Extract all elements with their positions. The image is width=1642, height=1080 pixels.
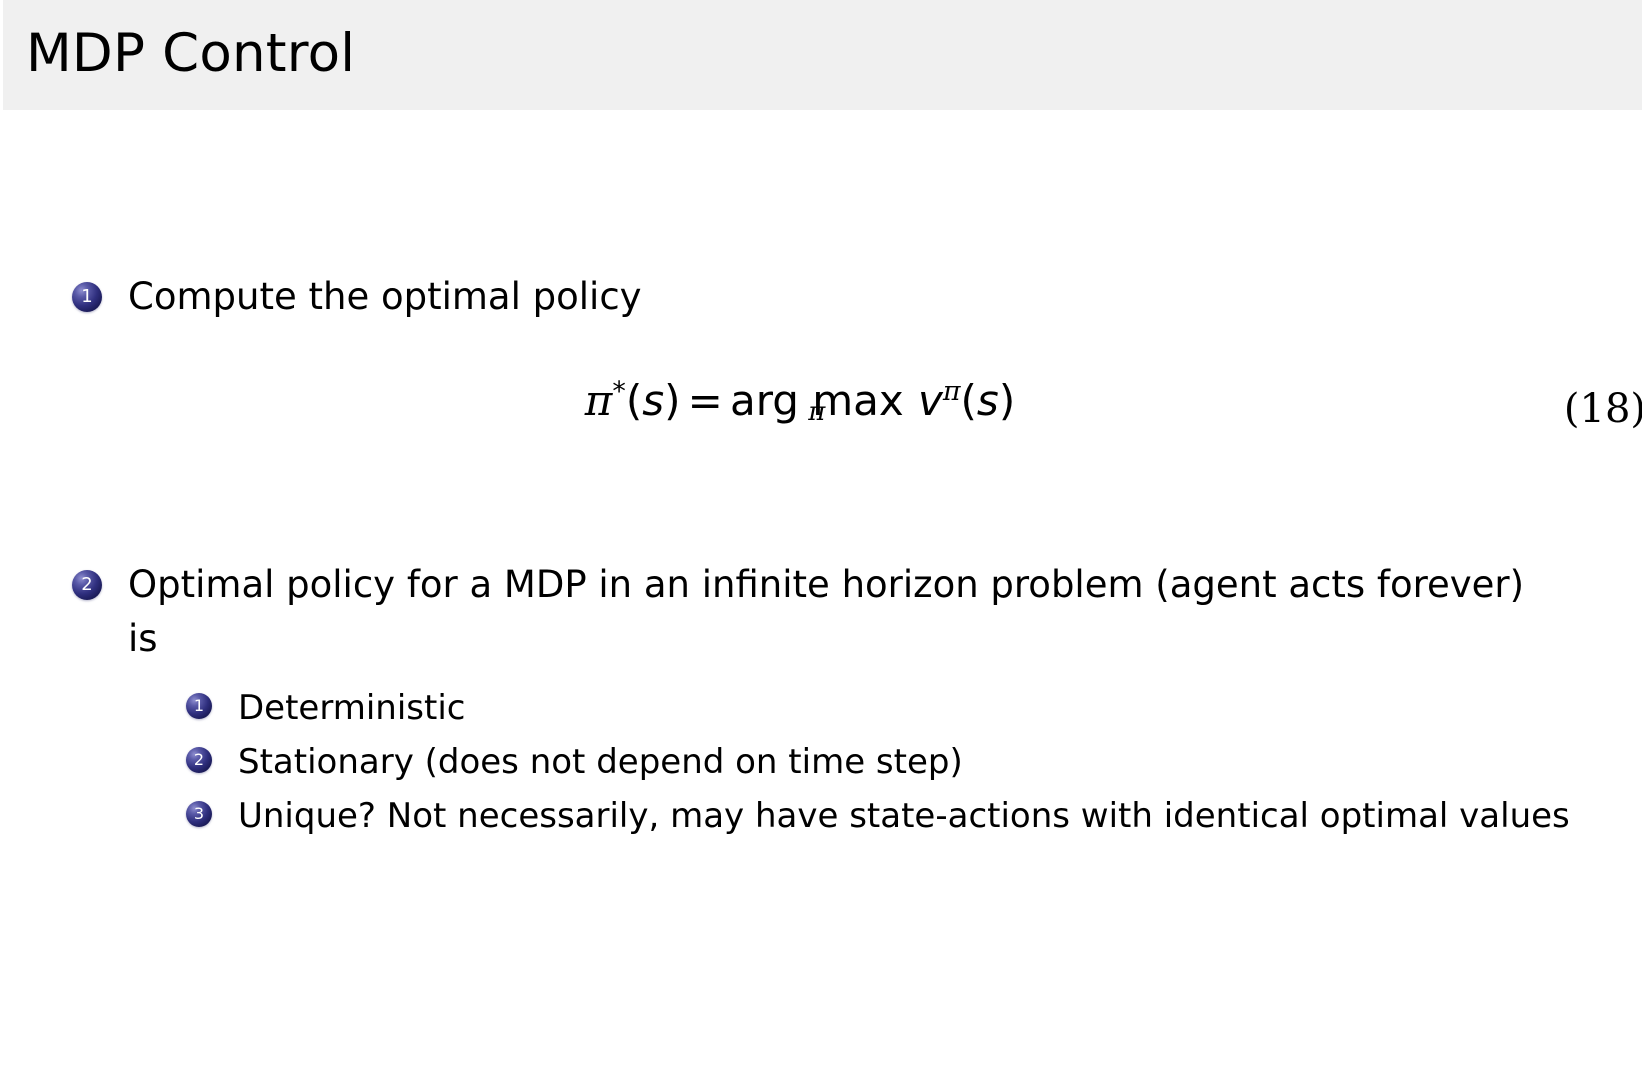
equation-value-function-symbol: v — [918, 376, 943, 425]
equation-argmax-subscript: π — [730, 399, 904, 425]
equation-star-superscript: * — [612, 376, 625, 407]
list-item: 3 Unique? Not necessarily, may have stat… — [172, 790, 1608, 842]
equation-close-paren: ) — [664, 376, 680, 425]
equation-close-paren-2: ) — [999, 376, 1015, 425]
sub-list-item-label: Unique? Not necessarily, may have state-… — [238, 796, 1570, 836]
equation-open-paren-2: ( — [961, 376, 977, 425]
display-equation: π*(s)=arg maxπvπ(s) (18) — [60, 372, 1642, 492]
enumerate-ball-marker-sub-1: 1 — [186, 693, 212, 719]
equation-state-variable-2: s — [977, 376, 999, 425]
list-item-label: Optimal policy for a MDP in an infinite … — [128, 563, 1524, 660]
list-item: 2 Stationary (does not depend on time st… — [172, 736, 1608, 788]
slide-body: 1 Compute the optimal policy π*(s)=arg m… — [0, 110, 1642, 1080]
enumerate-ball-marker-sub-2: 2 — [186, 747, 212, 773]
equation-number: (18) — [1564, 380, 1642, 438]
slide-header-bar: MDP Control — [0, 0, 1642, 110]
enumerate-level-1-continued: 2 Optimal policy for a MDP in an infinit… — [60, 558, 1540, 844]
enumerate-ball-marker-sub-3: 3 — [186, 801, 212, 827]
equation-pi-symbol: π — [585, 376, 613, 425]
enumerate-ball-marker-1: 1 — [72, 282, 102, 312]
list-item: 2 Optimal policy for a MDP in an infinit… — [60, 558, 1540, 842]
sub-list-item-label: Stationary (does not depend on time step… — [238, 742, 963, 782]
page-title: MDP Control — [26, 22, 355, 86]
sub-list-item-label: Deterministic — [238, 688, 465, 728]
enumerate-level-1: 1 Compute the optimal policy — [60, 270, 1540, 324]
equation-state-variable: s — [642, 376, 664, 425]
equation-value-superscript: π — [943, 376, 961, 407]
list-item: 1 Deterministic — [172, 682, 1608, 734]
equation-expression: π*(s)=arg maxπvπ(s) — [60, 372, 1540, 430]
equation-equals-sign: = — [688, 376, 723, 425]
list-item-label: Compute the optimal policy — [128, 275, 642, 318]
enumerate-ball-marker-2: 2 — [72, 570, 102, 600]
enumerate-level-2: 1 Deterministic 2 Stationary (does not d… — [172, 682, 1608, 842]
equation-open-paren: ( — [626, 376, 642, 425]
equation-argmax-operator: arg maxπ — [730, 372, 904, 430]
list-item: 1 Compute the optimal policy — [60, 270, 1540, 324]
